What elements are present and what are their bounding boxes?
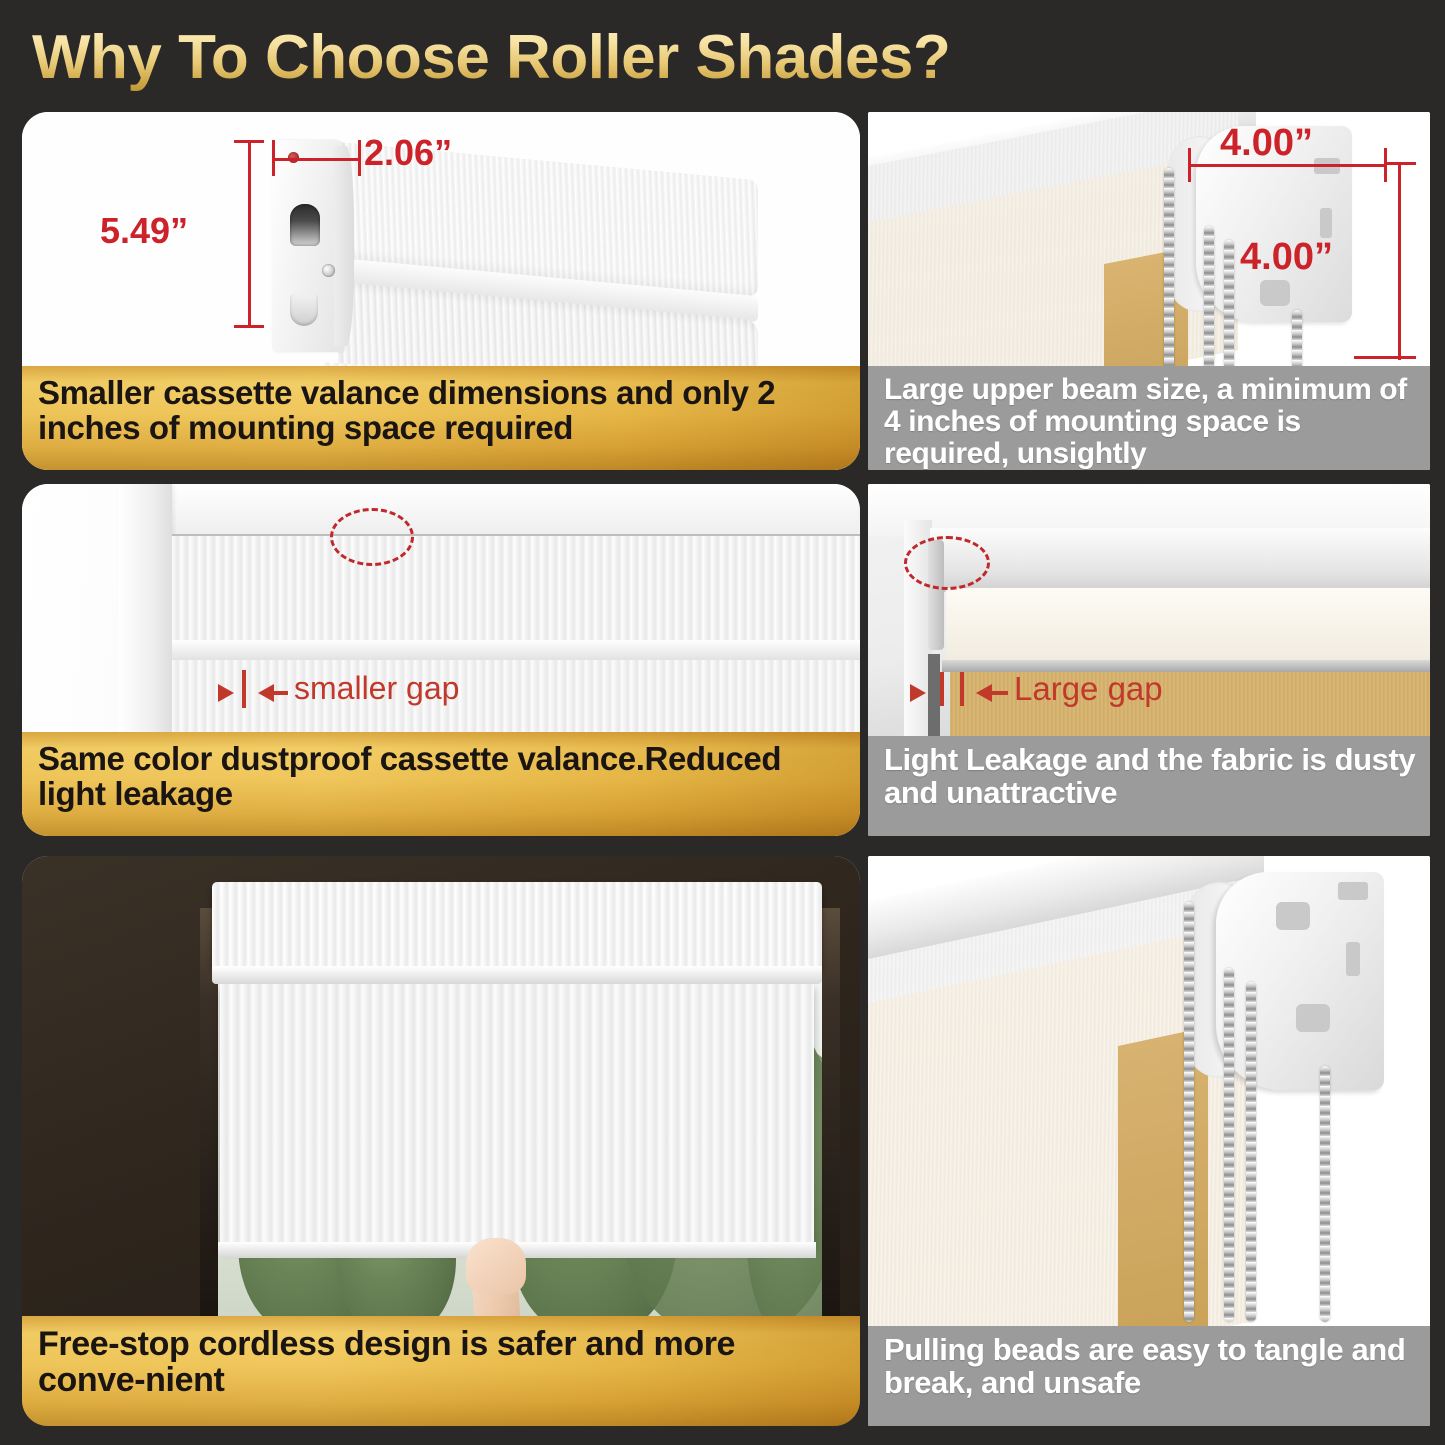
gap-arrow-stem	[274, 691, 288, 695]
highlight-ellipse-icon	[904, 536, 990, 590]
gap-arrow-left-icon	[976, 684, 992, 702]
width-dimension-label: 2.06”	[364, 132, 452, 174]
bead-chain-mid2	[1246, 982, 1256, 1322]
comparison-grid: 2.06” 5.49” Smaller cassette valance dim…	[0, 0, 1445, 1445]
gap-arrow-right-icon	[910, 684, 926, 702]
height-dimension-line-lower	[248, 246, 251, 328]
gap-label-large: Large gap	[1014, 670, 1163, 708]
window-frame-side	[118, 484, 172, 764]
beam-height-tick-bottom	[1354, 356, 1416, 359]
panel-large-upper-beam: 4.00” 4.00” Large upper beam size, a min…	[868, 112, 1430, 470]
gap-arrow-stem	[992, 691, 1008, 695]
caption-light-leakage: Light Leakage and the fabric is dusty an…	[868, 736, 1430, 836]
bead-chain-mid	[1224, 968, 1234, 1322]
window-frame-head	[118, 484, 858, 538]
bracket-slot-1	[1338, 882, 1368, 900]
height-dimension-tick-bottom	[234, 325, 264, 328]
width-dimension-line	[274, 158, 360, 161]
panel-pulling-beads: Pulling beads are easy to tangle and bre…	[868, 856, 1430, 1426]
panel-dustproof-cassette: smaller gap Same color dustproof cassett…	[22, 484, 860, 836]
valance-strip	[946, 588, 1430, 660]
gap-measure-bar-left	[940, 672, 944, 706]
gap-arrow-left-icon	[258, 684, 274, 702]
gap-measure-bar	[242, 670, 246, 708]
height-dimension-tick-top	[234, 140, 264, 143]
cassette-valance	[172, 534, 860, 640]
beam-height-dimension-line	[1398, 162, 1401, 360]
gap-arrow-right-icon	[218, 684, 234, 702]
beam-width-label: 4.00”	[1220, 122, 1313, 165]
cassette-valance-lip	[212, 966, 822, 984]
end-cap-slot	[290, 204, 320, 246]
beam-height-label: 4.00”	[1240, 236, 1333, 279]
bracket-slot-2	[1346, 942, 1360, 976]
roller-tube	[930, 528, 1430, 592]
end-cap-screw-icon	[322, 264, 335, 277]
bead-chain-right	[1320, 1066, 1330, 1322]
bracket-slot-3	[1276, 902, 1310, 930]
end-cap-knob	[290, 294, 318, 326]
width-dimension-tick-right	[358, 140, 361, 176]
panel-smaller-cassette: 2.06” 5.49” Smaller cassette valance dim…	[22, 112, 860, 470]
panel-free-stop-cordless: Free-stop cordless design is safer and m…	[22, 856, 860, 1426]
width-dimension-tick-left	[272, 140, 275, 176]
bracket-slot-4	[1296, 1004, 1330, 1032]
caption-large-upper-beam: Large upper beam size, a minimum of 4 in…	[868, 366, 1430, 470]
gap-measure-bar-right	[960, 672, 964, 706]
cassette-lip	[172, 640, 860, 660]
caption-free-stop-cordless: Free-stop cordless design is safer and m…	[22, 1316, 860, 1426]
highlight-ellipse-icon	[330, 508, 414, 566]
hand-gripping-hem-bar	[466, 1238, 526, 1294]
roller-shade-fabric	[220, 984, 814, 1246]
caption-dustproof-cassette: Same color dustproof cassette valance.Re…	[22, 732, 860, 836]
beam-height-tick-top	[1386, 162, 1416, 165]
caption-pulling-beads: Pulling beads are easy to tangle and bre…	[868, 1326, 1430, 1426]
bracket-slot-3	[1260, 280, 1290, 306]
beam-width-tick-left	[1188, 148, 1191, 182]
height-dimension-label: 5.49”	[100, 210, 188, 252]
bracket-slot-2	[1320, 208, 1332, 238]
panel-light-leakage: Large gap Light Leakage and the fabric i…	[868, 484, 1430, 836]
gap-label-smaller: smaller gap	[294, 670, 459, 707]
beam-width-tick-right	[1384, 148, 1387, 182]
caption-smaller-cassette: Smaller cassette valance dimensions and …	[22, 366, 860, 470]
bead-chain-left	[1184, 902, 1194, 1322]
cassette-valance	[212, 882, 822, 970]
